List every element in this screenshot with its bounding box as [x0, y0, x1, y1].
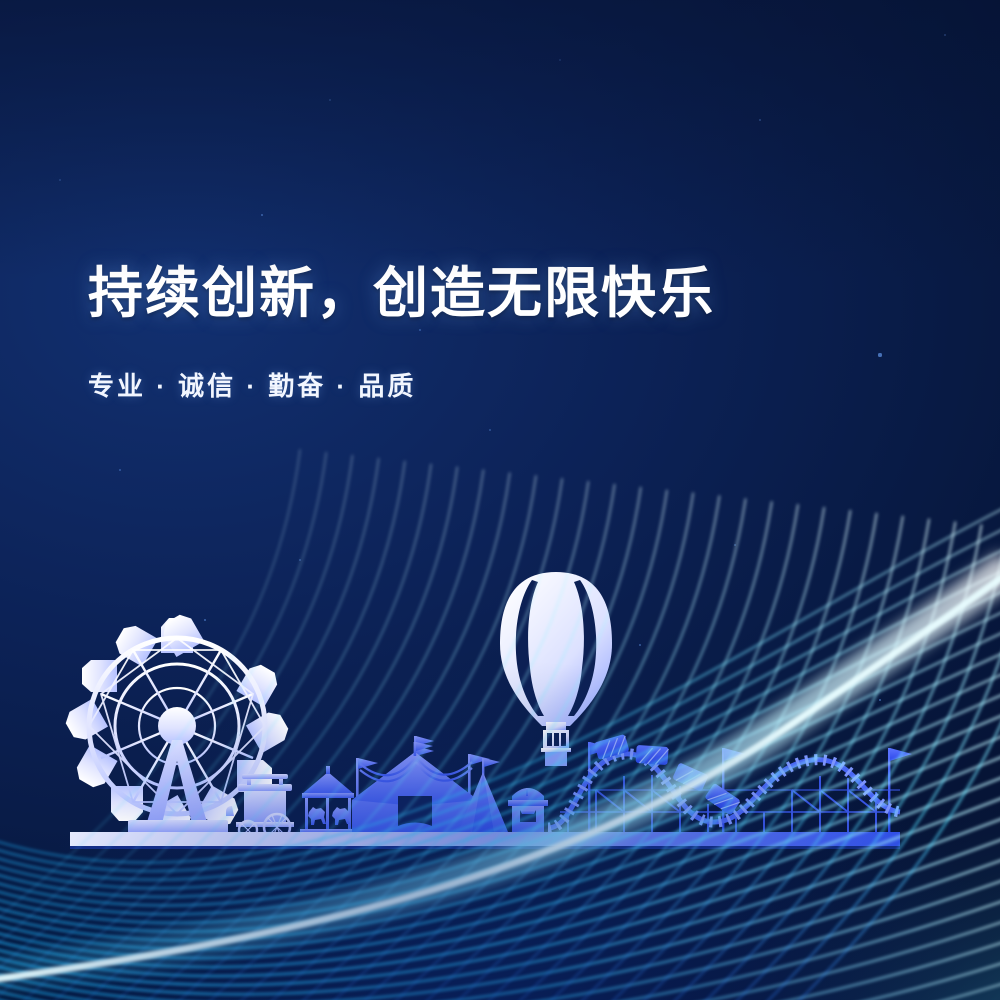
hero-text-block: 持续创新，创造无限快乐 专业 · 诚信 · 勤奋 · 品质 — [88, 262, 908, 403]
poster-canvas: 持续创新，创造无限快乐 专业 · 诚信 · 勤奋 · 品质 — [0, 0, 1000, 1000]
page-title: 持续创新，创造无限快乐 — [88, 262, 908, 326]
page-subtitle: 专业 · 诚信 · 勤奋 · 品质 — [88, 326, 908, 403]
background-gradient — [0, 0, 1000, 1000]
